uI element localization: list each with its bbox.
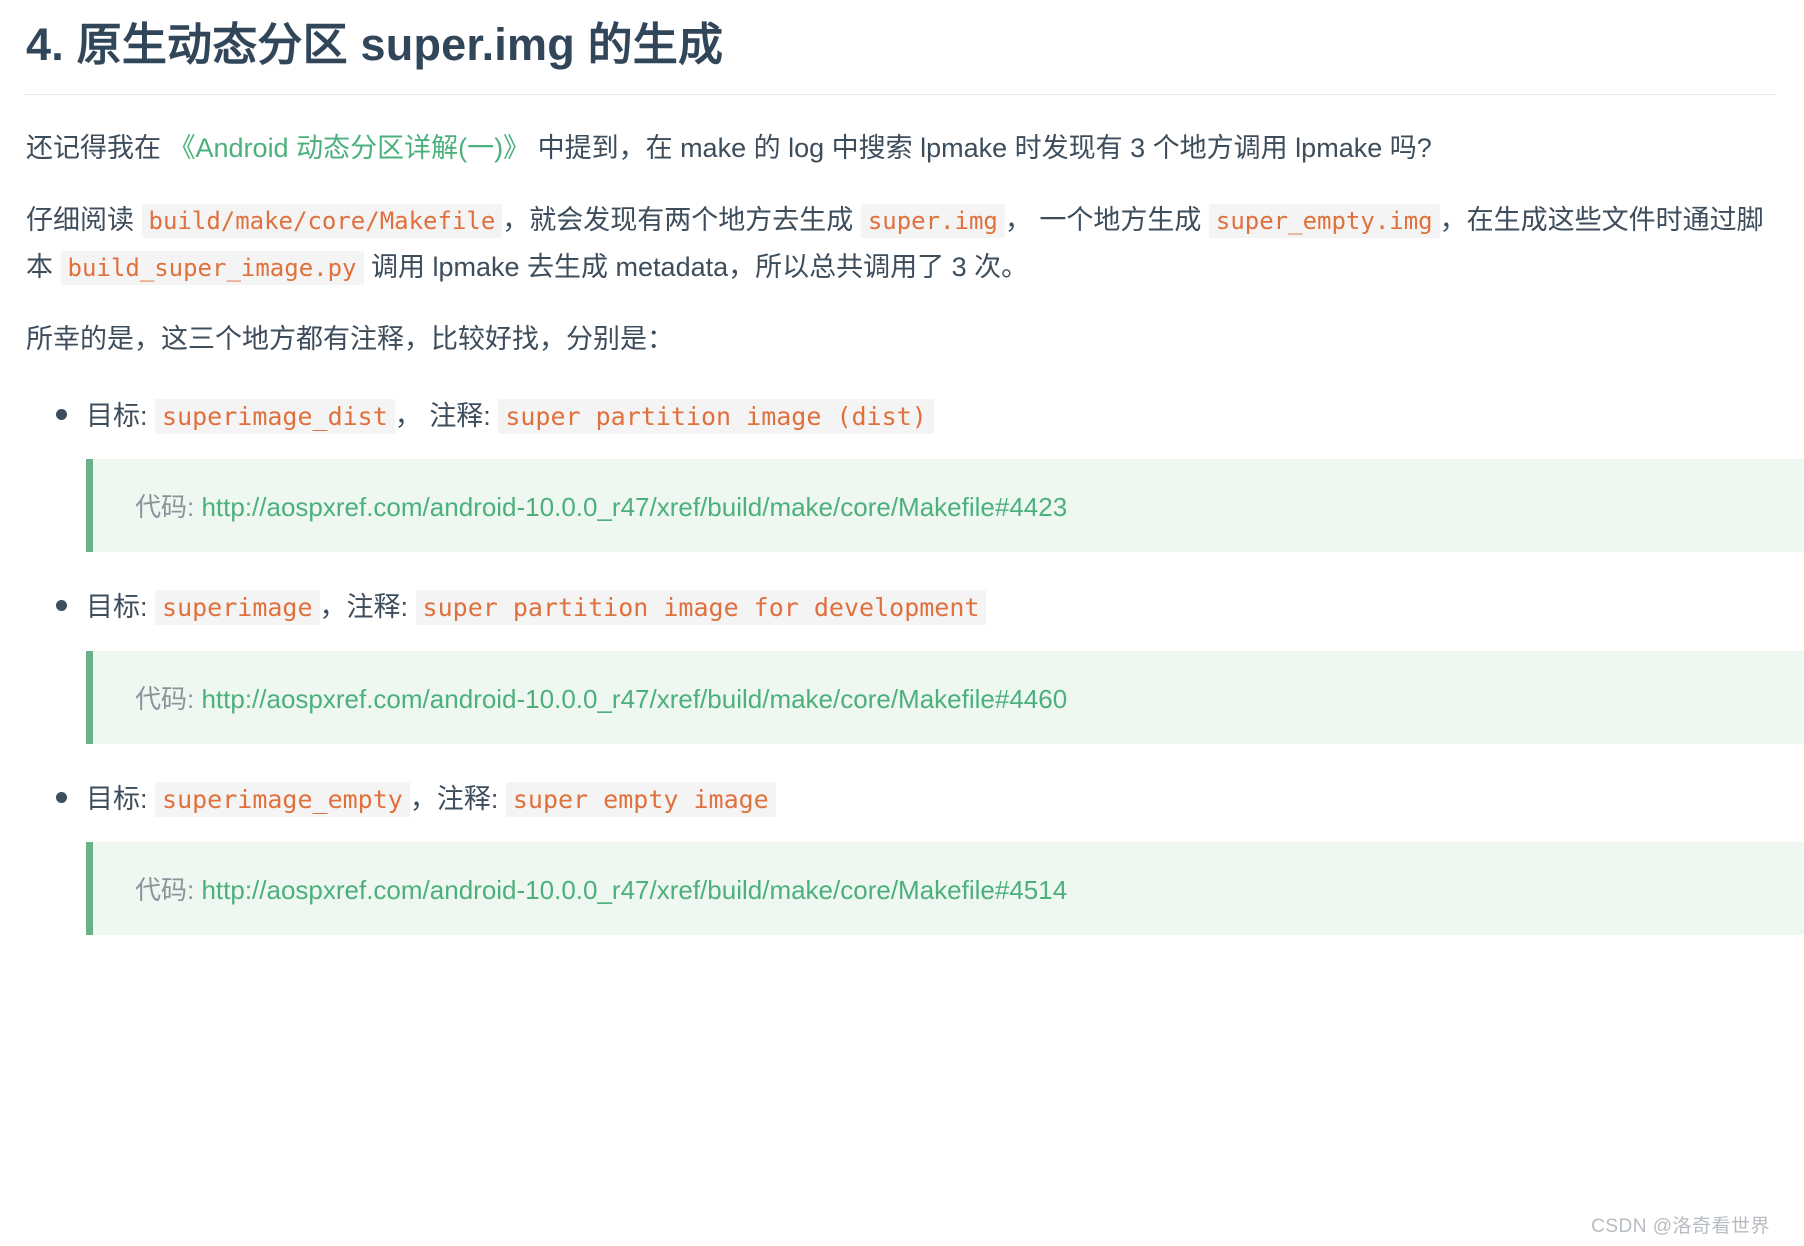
targets-list: 目标: superimage_dist， 注释: super partition… [24,387,1776,935]
comment-label: 注释: [429,401,498,431]
target-code: superimage_dist [155,399,395,434]
paragraph-comments-intro: 所幸的是，这三个地方都有注释，比较好找，分别是： [24,316,1776,362]
code-build-super-image-py: build_super_image.py [61,251,364,285]
target-label: 目标: [86,592,155,622]
code-reference-link[interactable]: http://aospxref.com/android-10.0.0_r47/x… [201,492,1067,522]
comment-label: 注释: [437,784,506,814]
paragraph-intro-text-after: 中提到，在 make 的 log 中搜索 lpmake 时发现有 3 个地方调用… [530,133,1432,163]
target-separator: ， [410,784,437,814]
paragraph-intro-text-before: 还记得我在 [26,133,169,163]
target-line: 目标: superimage_dist， 注释: super partition… [86,387,1776,441]
target-line: 目标: superimage，注释: super partition image… [86,578,1776,632]
makefile-text-2: ，就会发现有两个地方去生成 [502,205,861,235]
code-reference-blockquote: 代码: http://aospxref.com/android-10.0.0_r… [86,842,1804,935]
target-line: 目标: superimage_empty，注释: super empty ima… [86,770,1776,824]
makefile-text-1: 仔细阅读 [26,205,142,235]
list-item: 目标: superimage_dist， 注释: super partition… [24,387,1776,552]
target-code: superimage_empty [155,782,410,817]
code-reference-label: 代码: [135,875,201,905]
code-reference-label: 代码: [135,684,201,714]
list-item: 目标: superimage，注释: super partition image… [24,578,1776,743]
title-divider [24,94,1776,95]
article-page: 4. 原生动态分区 super.img 的生成 还记得我在 《Android 动… [0,0,1804,1246]
list-item: 目标: superimage_empty，注释: super empty ima… [24,770,1776,935]
code-reference-link[interactable]: http://aospxref.com/android-10.0.0_r47/x… [201,875,1067,905]
makefile-text-5: 调用 lpmake 去生成 metadata，所以总共调用了 3 次。 [364,252,1029,282]
paragraph-intro: 还记得我在 《Android 动态分区详解(一)》 中提到，在 make 的 l… [24,125,1776,171]
code-reference-blockquote: 代码: http://aospxref.com/android-10.0.0_r… [86,459,1804,552]
target-label: 目标: [86,401,155,431]
comment-label: 注释: [347,592,416,622]
code-reference-link[interactable]: http://aospxref.com/android-10.0.0_r47/x… [201,684,1067,714]
comment-code: super partition image for development [416,590,987,625]
code-reference-label: 代码: [135,492,201,522]
page-title: 4. 原生动态分区 super.img 的生成 [24,18,1776,72]
target-separator: ， [320,592,347,622]
comment-code: super partition image (dist) [498,399,933,434]
csdn-watermark: CSDN @洛奇看世界 [1591,1211,1770,1238]
target-code: superimage [155,590,320,625]
code-super-img: super.img [861,204,1005,238]
target-label: 目标: [86,784,155,814]
makefile-text-3: ， 一个地方生成 [1005,205,1209,235]
target-separator: ， [395,401,430,431]
paragraph-makefile: 仔细阅读 build/make/core/Makefile，就会发现有两个地方去… [24,197,1776,290]
comment-code: super empty image [506,782,776,817]
code-super-empty-img: super_empty.img [1209,204,1440,238]
code-makefile-path: build/make/core/Makefile [142,204,503,238]
android-dynamic-partition-link[interactable]: 《Android 动态分区详解(一)》 [169,133,531,163]
code-reference-blockquote: 代码: http://aospxref.com/android-10.0.0_r… [86,651,1804,744]
